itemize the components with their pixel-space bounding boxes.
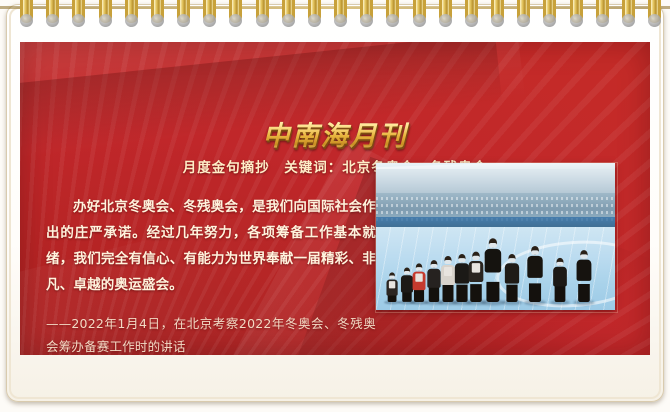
spiral-ring	[465, 0, 478, 29]
quote-source: ——2022年1月4日，在北京考察2022年冬奥会、冬残奥会筹办备赛工作时的讲话	[46, 312, 376, 355]
spiral-ring	[386, 0, 399, 29]
spiral-ring	[517, 0, 530, 29]
photo-person	[426, 260, 440, 302]
notebook-page: 中南海月刊 月度金句摘抄 关键词：北京冬奥会、冬残奥会 办好北京冬奥会、冬残奥会…	[0, 0, 670, 412]
spiral-ring	[622, 0, 635, 29]
spiral-ring	[177, 0, 190, 29]
spiral-ring	[439, 0, 452, 29]
photo-person	[525, 246, 544, 302]
spiral-ring	[543, 0, 556, 29]
spiral-ring	[46, 0, 59, 29]
photo-person	[575, 250, 593, 302]
page-title: 中南海月刊	[20, 114, 650, 153]
red-content-panel: 中南海月刊 月度金句摘抄 关键词：北京冬奥会、冬残奥会 办好北京冬奥会、冬残奥会…	[20, 42, 650, 355]
photo-person	[401, 268, 413, 302]
spiral-ring	[229, 0, 242, 29]
photo-person	[413, 263, 427, 302]
photo-rink-board	[376, 217, 615, 227]
spiral-ring	[256, 0, 269, 29]
spiral-ring	[99, 0, 112, 29]
spiral-ring	[151, 0, 164, 29]
spiral-ring	[413, 0, 426, 29]
spiral-ring	[282, 0, 295, 29]
photo-leaders-at-ice-venue	[376, 163, 615, 310]
spiral-ring	[125, 0, 138, 29]
quote-block: 办好北京冬奥会、冬残奥会，是我们向国际社会作出的庄严承诺。经过几年努力，各项筹备…	[46, 194, 376, 355]
spiral-ring	[596, 0, 609, 29]
spiral-ring	[308, 0, 321, 29]
quote-text: 办好北京冬奥会、冬残奥会，是我们向国际社会作出的庄严承诺。经过几年努力，各项筹备…	[46, 194, 376, 298]
spiral-ring	[203, 0, 216, 29]
spiral-ring	[570, 0, 583, 29]
photo-person	[552, 258, 567, 302]
spiral-binding	[0, 0, 670, 40]
photo-person	[387, 273, 397, 302]
spiral-ring	[360, 0, 373, 29]
photo-person	[482, 238, 504, 302]
spiral-ring	[72, 0, 85, 29]
spiral-ring	[20, 0, 33, 29]
spiral-ring	[491, 0, 504, 29]
spiral-ring	[334, 0, 347, 29]
spiral-ring	[648, 0, 661, 29]
photo-person	[504, 254, 521, 302]
